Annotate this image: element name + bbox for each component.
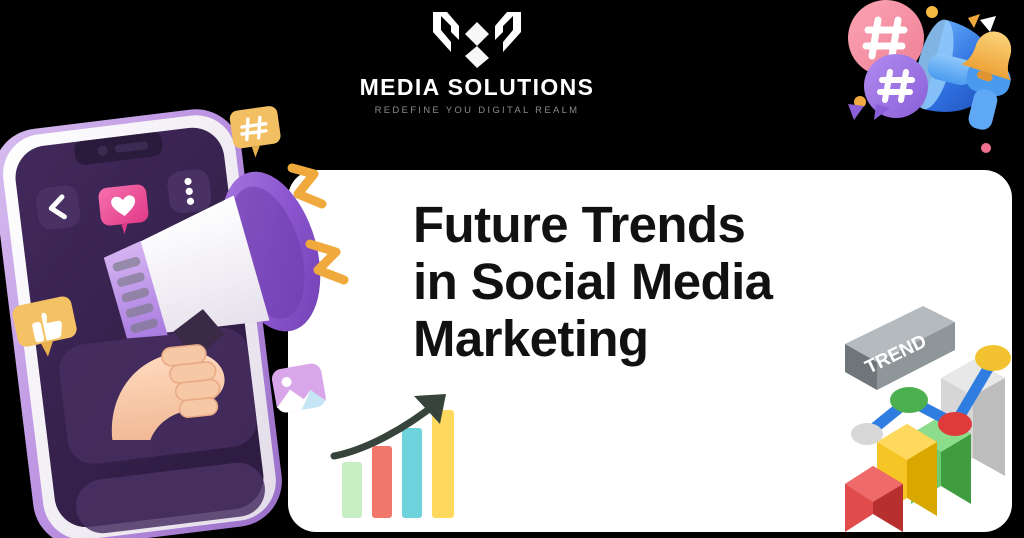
- headline-line-1: Future Trends: [413, 196, 883, 253]
- brand-tagline: REDEFINE YOU DIGITAL REALM: [352, 106, 602, 116]
- brand-logo-block: MEDIA SOLUTIONS REDEFINE YOU DIGITAL REA…: [352, 6, 602, 116]
- megaphone-hashtag-cluster: [828, 0, 1024, 164]
- bar-4: [432, 410, 454, 518]
- poster-canvas: MEDIA SOLUTIONS REDEFINE YOU DIGITAL REA…: [0, 0, 1024, 538]
- headline-line-3: Marketing: [413, 310, 883, 367]
- hashtag-bubble-icon: [228, 104, 286, 162]
- bar-1: [342, 462, 362, 518]
- back-chevron-icon: [35, 184, 82, 231]
- bar-3: [402, 428, 422, 518]
- angular-m-monogram-icon: [427, 6, 527, 72]
- brand-name: MEDIA SOLUTIONS: [352, 76, 602, 99]
- bar-2: [372, 446, 392, 518]
- headline-line-2: in Social Media: [413, 253, 883, 310]
- page-title: Future Trends in Social Media Marketing: [413, 196, 883, 367]
- thumbs-up-bubble-icon: [12, 292, 84, 364]
- isometric-3d-bars: TREND: [845, 300, 1023, 538]
- trend-plaque: TREND: [845, 306, 955, 390]
- flat-growth-bars: [330, 388, 480, 518]
- photo-bubble-icon: [268, 358, 330, 420]
